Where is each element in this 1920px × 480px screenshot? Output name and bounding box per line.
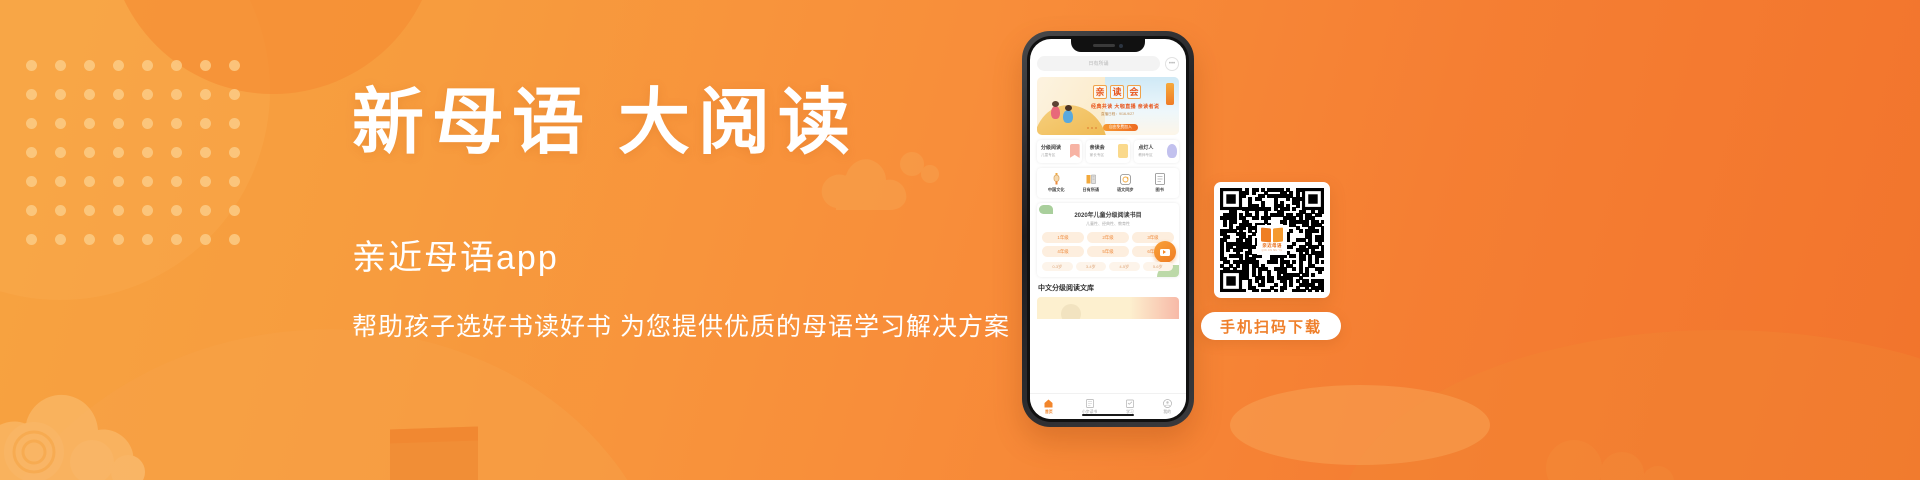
phone-shadow-ellipse <box>1230 385 1490 465</box>
promo-ribbon <box>1166 83 1174 105</box>
note-shape <box>1118 144 1128 158</box>
age-button[interactable]: 5-6岁 <box>1143 262 1174 271</box>
quick-entry-row: 中国文化日有所诵语文同步图书 <box>1037 168 1179 198</box>
dot <box>113 205 124 216</box>
phone-bezel: 日有所诵 ••• 亲读会 经典共读 大咖直播 亲读者说 直播日程：9/16-9/… <box>1027 36 1189 422</box>
dot <box>142 118 153 129</box>
tab-label: 首页 <box>1044 410 1053 415</box>
dot <box>113 176 124 187</box>
dot <box>26 205 37 216</box>
promo-date: 直播日程：9/16-9/27 <box>1101 112 1134 117</box>
phone-notch <box>1071 39 1145 52</box>
promo-subtitle: 经典共读 大咖直播 亲读者说 <box>1091 103 1159 110</box>
promo-title: 亲读会 <box>1093 85 1141 99</box>
promo-title-char: 亲 <box>1093 85 1107 99</box>
checklist-icon <box>1126 399 1134 409</box>
dot <box>200 60 211 71</box>
dot <box>26 118 37 129</box>
category-card[interactable]: 亲读会家长专区 <box>1086 140 1131 163</box>
booklist-title: 2020年儿童分级阅读书目 <box>1042 210 1174 219</box>
dot <box>26 60 37 71</box>
dot <box>113 60 124 71</box>
dot <box>171 205 182 216</box>
promo-card[interactable]: 亲读会 经典共读 大咖直播 亲读者说 直播日程：9/16-9/27 自由免费加入 <box>1037 77 1179 135</box>
dot <box>229 234 240 245</box>
banner-copy: 新母语 大阅读 亲近母语app 帮助孩子选好书读好书 为您提供优质的母语学习解决… <box>352 86 1012 343</box>
dot <box>171 89 182 100</box>
phone-mockup: 日有所诵 ••• 亲读会 经典共读 大咖直播 亲读者说 直播日程：9/16-9/… <box>1022 31 1194 427</box>
auspicious-cloud-icon <box>0 336 192 480</box>
lantern-icon <box>1040 173 1073 185</box>
banner-tagline: 帮助孩子选好书读好书 为您提供优质的母语学习解决方案 <box>352 307 1012 343</box>
reading-icon <box>1082 399 1097 409</box>
download-button[interactable]: 手机扫码下载 <box>1201 312 1341 340</box>
dot <box>113 147 124 158</box>
dot <box>200 89 211 100</box>
dot <box>229 60 240 71</box>
page-title: 新母语 大阅读 <box>352 86 1012 162</box>
dot <box>229 205 240 216</box>
dot-row <box>26 234 258 263</box>
dot <box>229 89 240 100</box>
dot-row <box>26 147 258 176</box>
dot <box>55 89 66 100</box>
child-illustration-2 <box>1063 110 1073 123</box>
dot <box>171 234 182 245</box>
dot <box>200 234 211 245</box>
quick-entry-label: 中国文化 <box>1040 187 1073 193</box>
dot <box>171 176 182 187</box>
child-illustration-1 <box>1051 106 1060 119</box>
quick-entry[interactable]: 日有所诵 <box>1074 173 1107 193</box>
category-card-row: 分级阅读儿童专区亲读会家长专区点灯人教师专区 <box>1037 140 1179 163</box>
dot <box>55 176 66 187</box>
auspicious-cloud-right-icon <box>1534 408 1684 480</box>
dot-row <box>26 60 258 89</box>
library-card[interactable] <box>1037 297 1179 319</box>
tab-label: 我的 <box>1163 410 1172 415</box>
ellipsis-icon[interactable]: ••• <box>1165 57 1179 71</box>
grade-button[interactable]: 2年级 <box>1087 232 1129 243</box>
dot <box>113 118 124 129</box>
promo-title-char: 会 <box>1127 85 1141 99</box>
dot-row <box>26 205 258 234</box>
dot <box>142 234 153 245</box>
brand-logo-icon: 亲近母语 QIN JIN MU YU <box>1257 225 1287 255</box>
dot <box>200 118 211 129</box>
dot <box>84 89 95 100</box>
open-book-icon <box>1074 173 1107 185</box>
dot <box>200 176 211 187</box>
background-box-shape <box>390 426 478 480</box>
dot <box>142 60 153 71</box>
quick-entry-label: 语文同步 <box>1109 187 1142 193</box>
promo-title-char: 读 <box>1110 85 1124 99</box>
sync-icon <box>1109 173 1142 185</box>
tab-home[interactable]: 首页 <box>1044 399 1053 415</box>
dot <box>55 60 66 71</box>
dot <box>26 234 37 245</box>
decorative-dot-grid <box>26 60 258 263</box>
dot <box>84 118 95 129</box>
booklist-subtitle: 儿童性、经典性、教育性 <box>1042 221 1174 227</box>
age-button[interactable]: 4-5岁 <box>1109 262 1140 271</box>
dot <box>229 176 240 187</box>
dot <box>142 176 153 187</box>
dot <box>142 147 153 158</box>
dot <box>171 60 182 71</box>
dot <box>26 89 37 100</box>
dot <box>84 234 95 245</box>
tab-profile[interactable]: 我的 <box>1163 399 1172 415</box>
tab-checklist[interactable]: 学习 <box>1126 399 1134 415</box>
qr-section: 亲近母语 QIN JIN MU YU <box>1214 182 1330 298</box>
search-input[interactable]: 日有所诵 <box>1037 56 1160 71</box>
app-content: 日有所诵 ••• 亲读会 经典共读 大咖直播 亲读者说 直播日程：9/16-9/… <box>1030 39 1186 393</box>
grade-button[interactable]: 1年级 <box>1042 232 1084 243</box>
video-play-icon[interactable] <box>1154 241 1176 263</box>
speaker-icon <box>1093 44 1115 47</box>
dot <box>55 234 66 245</box>
promo-join-button[interactable]: 自由免费加入 <box>1103 124 1138 131</box>
dot <box>55 205 66 216</box>
leaf-icon-left <box>1039 205 1053 214</box>
booklist-card: 2020年儿童分级阅读书目 儿童性、经典性、教育性 1年级2年级3年级4年级5年… <box>1037 203 1179 277</box>
book-icon <box>1143 173 1176 185</box>
dot <box>229 147 240 158</box>
dot <box>171 147 182 158</box>
library-illustration <box>1061 304 1081 319</box>
dot <box>26 176 37 187</box>
app-name-label: 亲近母语app <box>352 230 1012 279</box>
promo-banner: 新母语 大阅读 亲近母语app 帮助孩子选好书读好书 为您提供优质的母语学习解决… <box>0 0 1920 480</box>
open-book-logo-icon <box>1261 228 1283 242</box>
carousel-dots[interactable] <box>1087 127 1097 129</box>
dot <box>113 234 124 245</box>
tab-reading[interactable]: 小步读书 <box>1082 399 1097 415</box>
grade-button[interactable]: 5年级 <box>1087 246 1129 257</box>
age-button[interactable]: 0-3岁 <box>1042 262 1073 271</box>
quick-entry-label: 日有所诵 <box>1074 187 1107 193</box>
app-search-bar[interactable]: 日有所诵 ••• <box>1037 56 1179 71</box>
profile-icon <box>1163 399 1172 409</box>
dot <box>113 89 124 100</box>
dot-row <box>26 176 258 205</box>
dot <box>84 176 95 187</box>
person-shape <box>1167 144 1177 158</box>
dot <box>84 205 95 216</box>
dot <box>84 147 95 158</box>
quick-entry[interactable]: 图书 <box>1143 173 1176 193</box>
library-title: 中文分级阅读文库 <box>1037 282 1179 297</box>
dot <box>55 147 66 158</box>
age-button[interactable]: 3-4岁 <box>1076 262 1107 271</box>
quick-entry[interactable]: 语文同步 <box>1109 173 1142 193</box>
home-icon <box>1044 399 1053 409</box>
app-screen: 日有所诵 ••• 亲读会 经典共读 大咖直播 亲读者说 直播日程：9/16-9/… <box>1030 39 1186 419</box>
category-card[interactable]: 分级阅读儿童专区 <box>1037 140 1082 163</box>
brand-name-en: QIN JIN MU YU <box>1262 249 1283 252</box>
quick-entry-label: 图书 <box>1143 187 1176 193</box>
quick-entry[interactable]: 中国文化 <box>1040 173 1073 193</box>
age-button-grid: 0-3岁3-4岁4-5岁5-6岁 <box>1042 262 1174 271</box>
dot <box>200 147 211 158</box>
dot <box>26 147 37 158</box>
category-card[interactable]: 点灯人教师专区 <box>1134 140 1179 163</box>
dot <box>171 118 182 129</box>
dot <box>84 60 95 71</box>
dot-row <box>26 89 258 118</box>
home-indicator <box>1082 414 1134 417</box>
grade-button-grid: 1年级2年级3年级4年级5年级6年级 <box>1042 232 1174 257</box>
dot <box>200 205 211 216</box>
dot-row <box>26 118 258 147</box>
dot <box>142 205 153 216</box>
dot <box>142 89 153 100</box>
dot <box>55 118 66 129</box>
camera-icon <box>1119 44 1123 48</box>
dot <box>229 118 240 129</box>
grade-button[interactable]: 4年级 <box>1042 246 1084 257</box>
qr-code[interactable]: 亲近母语 QIN JIN MU YU <box>1214 182 1330 298</box>
